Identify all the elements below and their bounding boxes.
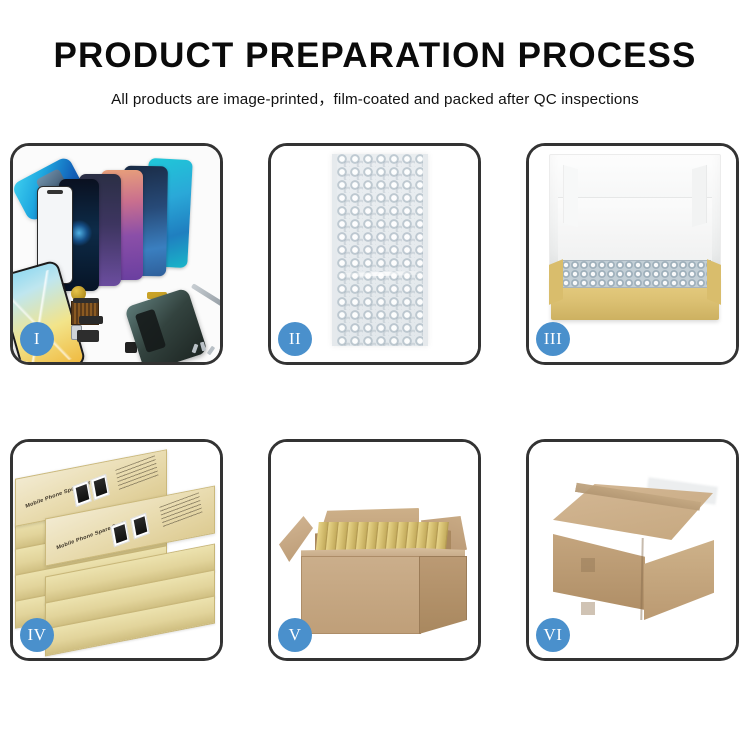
screw-icon: [200, 342, 206, 352]
carton-handle-notch: [581, 558, 595, 572]
step-panel-5: V: [268, 439, 481, 661]
bubble-pattern-back: [337, 154, 423, 346]
bubble-wrapped-item: [561, 260, 711, 288]
box-phone-image: [110, 521, 130, 548]
carton-corner-mark: [581, 602, 595, 615]
lid-flap-left: [563, 165, 578, 227]
step-badge-6: VI: [536, 618, 570, 652]
screws-group: [193, 342, 219, 356]
steps-grid: I II: [10, 143, 740, 683]
step-panel-3: III: [526, 143, 739, 365]
tray-lip-right: [707, 259, 721, 305]
tray-lip-left: [549, 259, 563, 305]
carton-front-face: [301, 556, 421, 634]
step-panel-6: VI: [526, 439, 739, 661]
box-spec-lines: [159, 492, 202, 528]
header: PRODUCT PREPARATION PROCESS All products…: [0, 0, 750, 109]
step-panel-1: I: [10, 143, 223, 365]
screw-icon: [192, 344, 199, 354]
box-kraft-tray: [551, 276, 719, 320]
screw-icon: [207, 346, 215, 356]
step-badge-1: I: [20, 322, 54, 356]
step-badge-5: V: [278, 618, 312, 652]
lid-flap-right: [692, 165, 707, 227]
phone-notch-icon: [47, 190, 63, 194]
box-spec-lines: [115, 455, 158, 491]
step-badge-2: II: [278, 322, 312, 356]
step-badge-3: III: [536, 322, 570, 356]
flex-cable-part-2: [77, 330, 99, 342]
flex-cable-part-1: [79, 316, 103, 324]
box-phone-image: [130, 513, 150, 540]
step-badge-4: IV: [20, 618, 54, 652]
page-title: PRODUCT PREPARATION PROCESS: [0, 0, 750, 76]
step-panel-4: Mobile Phone Spare Parts Mobile Phone Sp…: [10, 439, 223, 661]
bubble-wrap-sheet: [332, 154, 428, 346]
box-phone-image: [72, 480, 92, 507]
box-white-lid: [549, 154, 721, 268]
taptic-engine-part: [73, 298, 99, 303]
product-preparation-infographic: PRODUCT PREPARATION PROCESS All products…: [0, 0, 750, 750]
box-phone-image: [90, 474, 110, 501]
page-subtitle: All products are image-printed，film-coat…: [0, 76, 750, 109]
step-panel-2: II: [268, 143, 481, 365]
